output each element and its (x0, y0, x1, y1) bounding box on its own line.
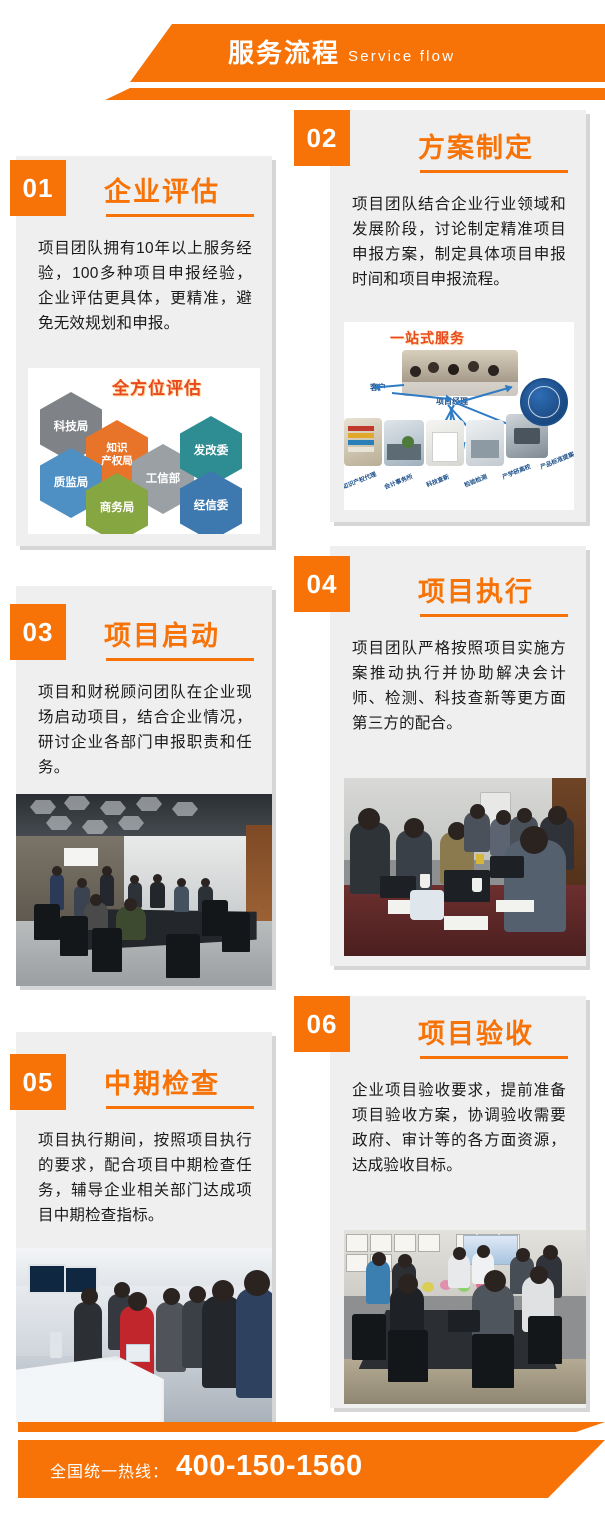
service-thumb-ip (344, 418, 382, 466)
step-number-badge: 01 (10, 160, 66, 216)
step-number-badge: 06 (294, 996, 350, 1052)
step-title: 方案制定 (418, 126, 534, 165)
title-underline (420, 1056, 568, 1059)
page-title: 服务流程 (228, 36, 340, 70)
step-title: 中期检查 (104, 1062, 220, 1101)
step-title: 企业评估 (104, 170, 220, 209)
assessment-hexagon-chart: 全方位评估 科技局 知识产权局 质监局 工信部 商务局 发改委 经信委 (28, 368, 260, 534)
step-description: 项目和财税顾问团队在企业现场启动项目，结合企业情况，研讨企业各部门申报职责和任务… (38, 680, 252, 780)
step-title: 项目启动 (104, 614, 220, 653)
service-thumb-novelty (426, 420, 464, 466)
footer-accent-stripe (18, 1422, 605, 1432)
infographic-page: 服务流程 Service flow 01 企业评估 项目团队拥有10年以上服务经… (0, 0, 605, 1538)
hotline-label: 全国统一热线： (50, 1458, 169, 1482)
hotline-phone[interactable]: 400-150-1560 (176, 1450, 363, 1483)
one-stop-service-diagram: 一站式服务 客户 项目经理 (344, 322, 574, 510)
step-title: 项目执行 (418, 570, 534, 609)
step-number-badge: 05 (10, 1054, 66, 1110)
step-card-01: 01 企业评估 项目团队拥有10年以上服务经验，100多种项目申报经验，企业评估… (16, 156, 272, 546)
service-node-label: 科技查新 (425, 472, 451, 489)
title-underline (106, 214, 254, 217)
service-thumb-accounting (384, 420, 424, 466)
certification-seal-icon (520, 378, 568, 426)
service-node-label: 检验检测 (463, 472, 489, 489)
step-card-05: 05 中期检查 项目执行期间，按照项目执行的要求，配合项目中期检查任务，辅导企业… (16, 1032, 272, 1422)
step-number-badge: 02 (294, 110, 350, 166)
step-description: 项目执行期间，按照项目执行的要求，配合项目中期检查任务，辅导企业相关部门达成项目… (38, 1128, 252, 1228)
title-underline (106, 1106, 254, 1109)
step-card-03: 03 项目启动 项目和财税顾问团队在企业现场启动项目，结合企业情况，研讨企业各部… (16, 586, 272, 986)
title-underline (106, 658, 254, 661)
step-title: 项目验收 (418, 1012, 534, 1051)
step-number-badge: 03 (10, 604, 66, 660)
service-diagram-title: 一站式服务 (390, 328, 465, 348)
page-header: 服务流程 Service flow (0, 0, 605, 110)
photo-conference-room (16, 794, 272, 986)
step-description: 企业项目验收要求，提前准备项目验收方案，协调验收需要政府、审计等的各方面资源，达… (352, 1078, 566, 1178)
step-description: 项目团队拥有10年以上服务经验，100多种项目申报经验，企业评估更具体，更精准，… (38, 236, 252, 336)
title-underline (420, 170, 568, 173)
photo-boardroom (344, 1230, 586, 1404)
hexagon-chart-title: 全方位评估 (112, 374, 202, 399)
service-node-label: 会计事务所 (383, 471, 414, 491)
photo-site-visit (16, 1248, 272, 1422)
photo-working-session (344, 778, 586, 956)
step-card-06: 06 项目验收 企业项目验收要求，提前准备项目验收方案，协调验收需要政府、审计等… (330, 996, 586, 1408)
header-accent-stripe (105, 88, 605, 100)
title-underline (420, 614, 568, 617)
step-card-04: 04 项目执行 项目团队严格按照项目实施方案推动执行并协助解决会计师、检测、科技… (330, 546, 586, 966)
step-description: 项目团队严格按照项目实施方案推动执行并协助解决会计师、检测、科技查新等更方面第三… (352, 636, 566, 736)
step-card-02: 02 方案制定 项目团队结合企业行业领域和发展阶段，讨论制定精准项目申报方案，制… (330, 110, 586, 522)
service-node-label: 知识产权代理 (344, 469, 377, 491)
flow-arrow (374, 384, 404, 389)
page-footer: 全国统一热线： 400-150-1560 (0, 1408, 605, 1538)
page-subtitle: Service flow (348, 45, 455, 69)
service-node-label: 产学研高校 (501, 461, 532, 481)
step-number-badge: 04 (294, 556, 350, 612)
step-description: 项目团队结合企业行业领域和发展阶段，讨论制定精准项目申报方案，制定具体项目申报时… (352, 192, 566, 292)
service-thumb-testing (466, 420, 504, 466)
